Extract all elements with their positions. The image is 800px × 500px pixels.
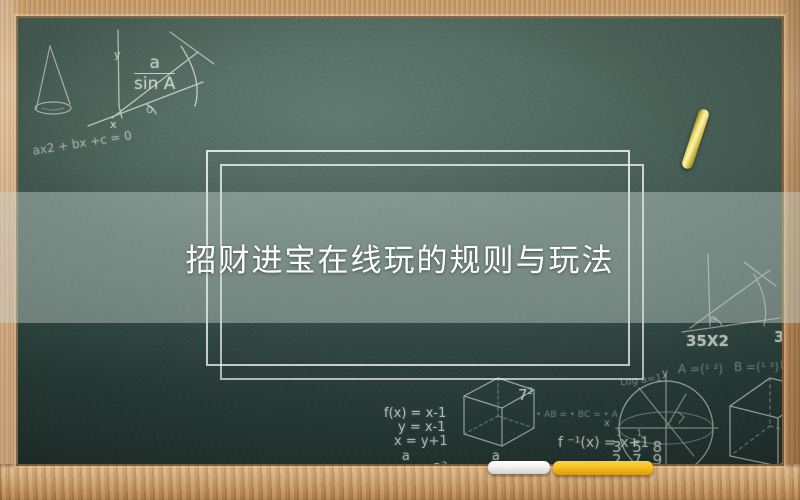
chalkboard-banner: a sin A y x o ax2 + bx +c = 0 o 35X2 3X2… [0, 0, 800, 500]
chalk-stick-white-tray[interactable] [488, 461, 550, 474]
chalk-stick-yellow-tray[interactable] [553, 461, 653, 475]
page-title: 招财进宝在线玩的规则与玩法 [0, 192, 800, 323]
chalk-tray-ledge [0, 464, 800, 500]
